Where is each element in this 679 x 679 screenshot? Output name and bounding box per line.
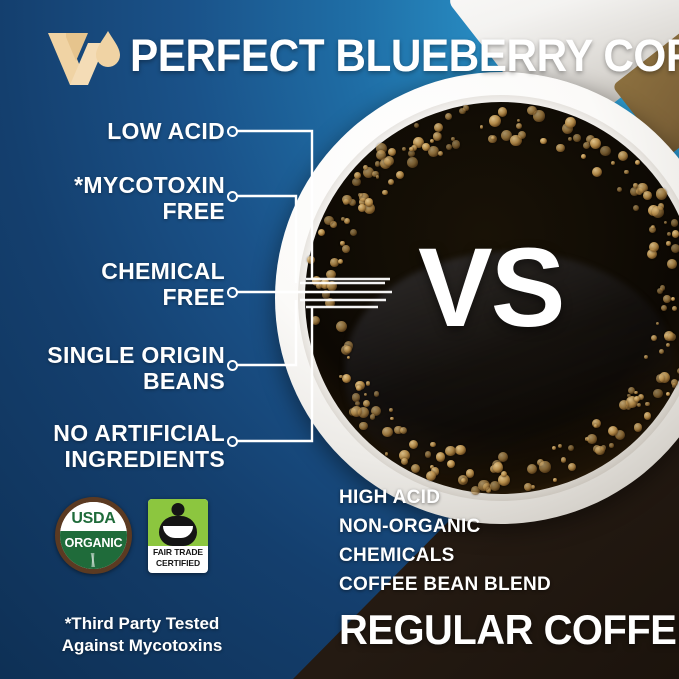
feature-single-origin-beans: SINGLE ORIGIN BEANS [47,342,225,394]
drawback-coffee-bean-blend: COFFEE BEAN BLEND [339,570,551,599]
fair-trade-line2: CERTIFIED [148,558,208,569]
usda-bottom-text: ORGANIC [65,536,123,550]
drawback-high-acid: HIGH ACID [339,483,551,512]
feature-dot-single-origin-beans [227,360,238,371]
drawback-chemicals: CHEMICALS [339,541,551,570]
usda-top-text: USDA [71,510,115,528]
feature-dot-chemical-free [227,287,238,298]
fair-trade-certified-badge-icon: FAIR TRADE CERTIFIED [148,499,208,573]
regular-coffee-title: REGULAR COFFEE [339,605,679,655]
regular-coffee-drawbacks-list: HIGH ACID NON-ORGANIC CHEMICALS COFFEE B… [339,483,551,599]
mycotoxin-footnote: *Third Party Tested Against Mycotoxins [22,613,262,657]
fair-trade-figure-head [172,503,185,516]
feature-chemical-free: CHEMICAL FREE [101,258,225,310]
product-comparison-poster: PERFECT BLUEBERRY COFFEE LOW ACID *MYCOT… [0,0,679,679]
page-title: PERFECT BLUEBERRY COFFEE [130,28,679,84]
checkmark-droplet-logo-icon [44,27,122,89]
feature-dot-low-acid [227,126,238,137]
feature-mycotoxin-free: *MYCOTOXIN FREE [74,172,225,224]
feature-dot-no-artificial [227,436,238,447]
vs-label: VS [418,232,563,344]
feature-dot-mycotoxin-free [227,191,238,202]
drawback-non-organic: NON-ORGANIC [339,512,551,541]
certification-badges: USDA ORGANIC FAIR TRADE CERTIFIED [55,497,208,574]
fair-trade-line1: FAIR TRADE [148,547,208,558]
feature-no-artificial: NO ARTIFICIAL INGREDIENTS [53,420,225,472]
feature-low-acid: LOW ACID [107,118,225,144]
usda-organic-seal-icon: USDA ORGANIC [55,497,132,574]
